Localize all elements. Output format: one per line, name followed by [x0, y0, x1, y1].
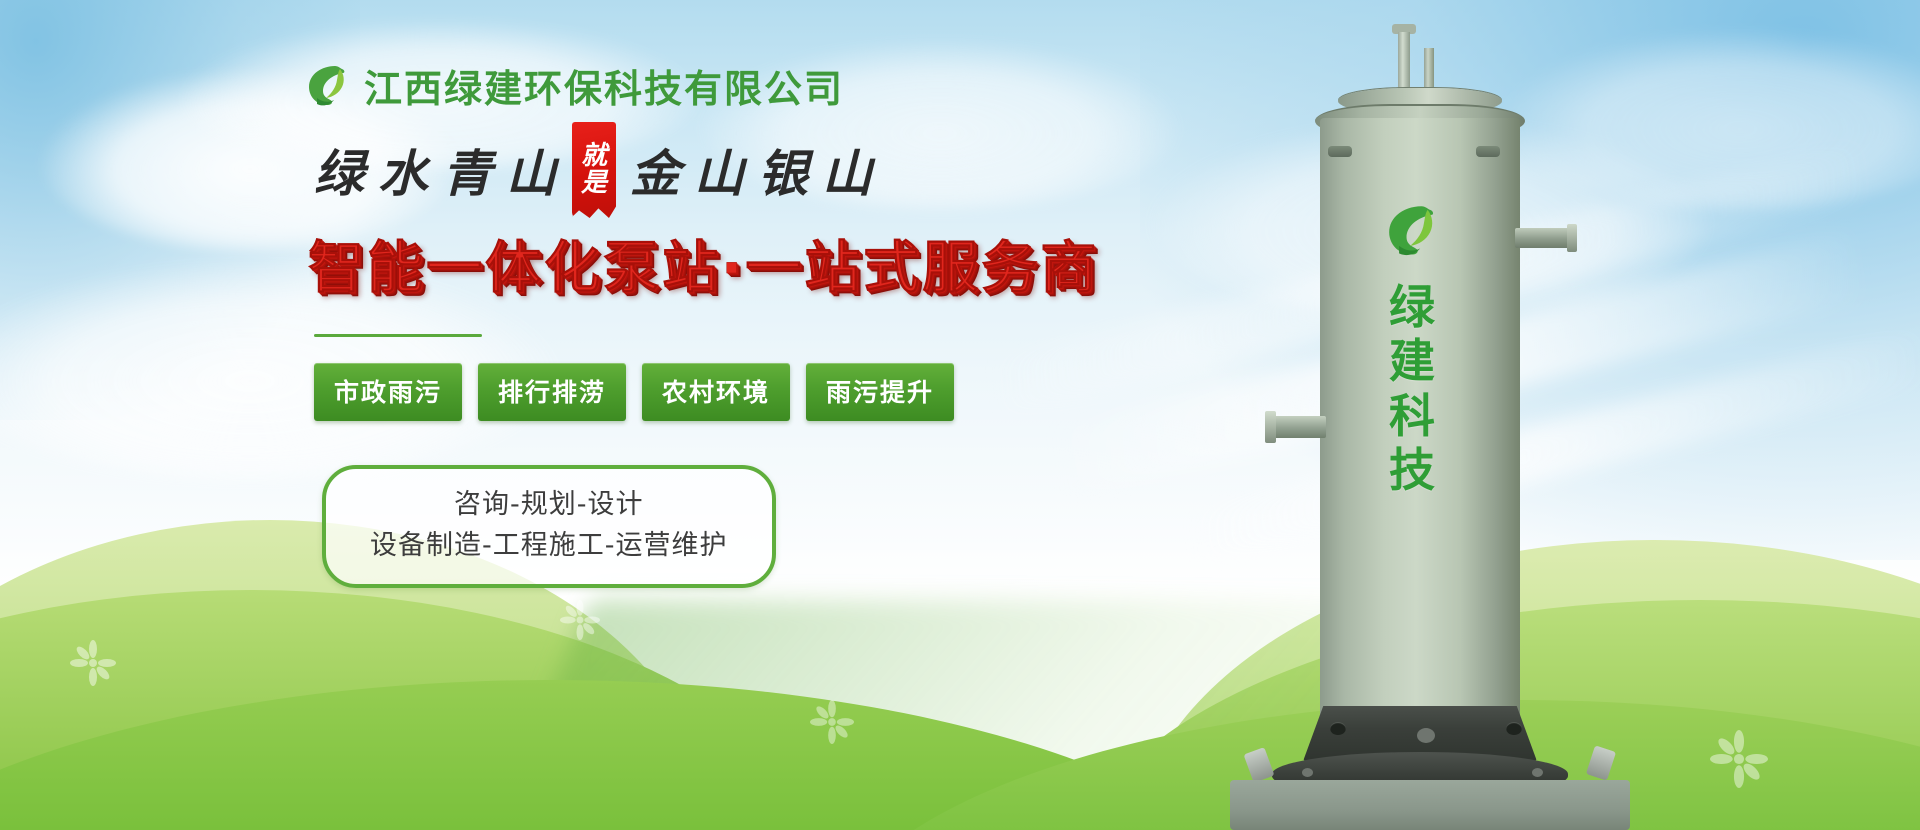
- slogan-right: 金山银山: [630, 134, 886, 206]
- red-seal-stamp: 就 是: [572, 122, 616, 218]
- flange-bolt-3: [1532, 768, 1543, 777]
- service-tag-rural[interactable]: 农村环境: [642, 363, 790, 421]
- slogan-left: 绿水青山: [314, 134, 570, 206]
- service-tag-drainage[interactable]: 排行排涝: [478, 363, 626, 421]
- service-scope-box: 咨询-规划-设计 设备制造-工程施工-运营维护: [322, 465, 776, 588]
- seal-char-top: 就: [581, 143, 607, 170]
- main-headline: 智能一体化泵站·一站式服务商: [308, 223, 1060, 304]
- service-tag-sewage-lift[interactable]: 雨污提升: [806, 363, 954, 421]
- tank-brand-char-4: 技: [1382, 443, 1442, 497]
- lifting-lug-left: [1328, 146, 1352, 157]
- promotional-banner: 江西绿建环保科技有限公司 绿水青山 就 是 金山银山 智能一体化泵站·一站式服务…: [0, 0, 1920, 830]
- anchor-bolt-left: [1244, 747, 1275, 783]
- flower-icon: [560, 600, 600, 640]
- service-scope-line-2: 设备制造-工程施工-运营维护: [370, 526, 728, 567]
- service-tag-list: 市政雨污 排行排涝 农村环境 雨污提升: [314, 363, 1060, 421]
- flower-icon: [1710, 730, 1768, 788]
- seal-char-bottom: 是: [581, 170, 607, 197]
- flower-icon: [810, 700, 854, 744]
- inlet-nozzle-left: [1272, 416, 1326, 438]
- integrated-pump-station-product: 绿 建 科 技: [1210, 0, 1680, 830]
- tank-leaf-swirl-logo-icon: [1378, 198, 1440, 264]
- outlet-nozzle-right: [1515, 228, 1571, 248]
- service-scope-line-1: 咨询-规划-设计: [370, 485, 728, 526]
- anchor-bolt-right: [1586, 745, 1616, 780]
- divider-rule: [314, 334, 482, 337]
- lifting-lug-right: [1476, 146, 1500, 157]
- tank-brand-text: 绿 建 科 技: [1382, 280, 1442, 497]
- vent-pipe-primary: [1398, 32, 1410, 96]
- leaf-swirl-logo-icon: [300, 60, 350, 112]
- company-identity: 江西绿建环保科技有限公司: [300, 58, 1060, 113]
- tank-brand-char-3: 科: [1382, 389, 1442, 443]
- base-port-left: [1330, 722, 1346, 735]
- banner-text-block: 江西绿建环保科技有限公司 绿水青山 就 是 金山银山 智能一体化泵站·一站式服务…: [300, 58, 1060, 588]
- tank-brand-char-1: 绿: [1382, 280, 1442, 334]
- base-bolt-center: [1417, 728, 1435, 743]
- concrete-ground-slab: [1230, 780, 1630, 830]
- tank-brand-char-2: 建: [1382, 334, 1442, 388]
- company-name: 江西绿建环保科技有限公司: [364, 58, 844, 113]
- slogan-calligraphy: 绿水青山 就 是 金山银山: [314, 127, 1060, 213]
- flower-icon: [70, 640, 116, 686]
- base-port-right: [1506, 722, 1522, 735]
- flange-bolt-1: [1302, 768, 1313, 777]
- service-tag-municipal[interactable]: 市政雨污: [314, 363, 462, 421]
